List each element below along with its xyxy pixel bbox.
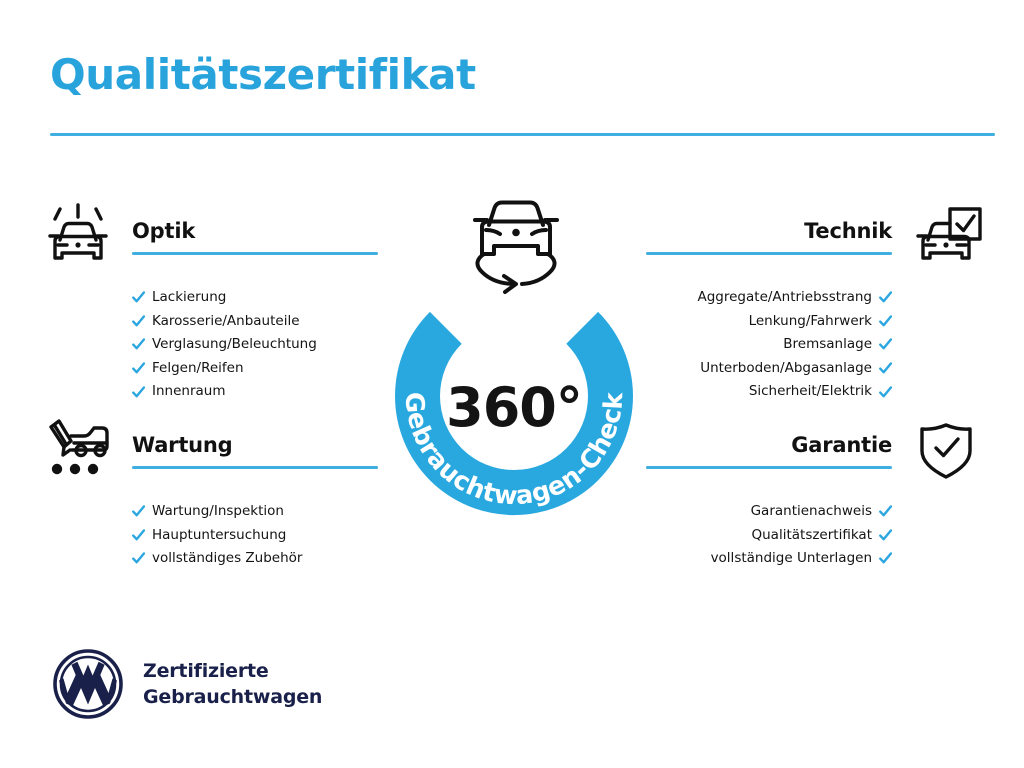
check-icon bbox=[879, 291, 892, 304]
section-title-group: Optik bbox=[132, 220, 382, 255]
list-item-label: Sicherheit/Elektrik bbox=[749, 380, 872, 404]
section-divider bbox=[132, 252, 378, 255]
check-icon bbox=[132, 552, 145, 565]
footer-line-1: Zertifizierte bbox=[143, 658, 322, 684]
check-icon bbox=[132, 505, 145, 518]
section-wartung: Wartung Wartung/Inspektion Hauptuntersuc… bbox=[38, 414, 383, 486]
footer-line-2: Gebrauchtwagen bbox=[143, 684, 322, 710]
section-title-group: Garantie bbox=[642, 434, 892, 469]
list-item-label: Qualitätszertifikat bbox=[752, 524, 873, 548]
list-item-label: Hauptuntersuchung bbox=[152, 524, 286, 548]
check-icon bbox=[132, 291, 145, 304]
certificate-page: Qualitätszertifikat bbox=[0, 0, 1024, 768]
section-title-group: Wartung bbox=[132, 434, 382, 469]
section-heading: Optik bbox=[132, 220, 382, 243]
list-item: Lenkung/Fahrwerk bbox=[632, 310, 892, 334]
list-item-label: vollständige Unterlagen bbox=[711, 547, 872, 571]
list-item-label: Aggregate/Antriebsstrang bbox=[698, 286, 873, 310]
check-icon bbox=[132, 338, 145, 351]
pen-car-checklist-icon bbox=[38, 418, 118, 484]
page-title: Qualitätszertifikat bbox=[50, 52, 476, 98]
vw-logo bbox=[52, 648, 124, 720]
check-icon bbox=[879, 386, 892, 399]
list-item-label: Bremsanlage bbox=[783, 333, 872, 357]
list-item-label: Lackierung bbox=[152, 286, 226, 310]
footer-brand: Zertifizierte Gebrauchtwagen bbox=[52, 648, 322, 720]
list-item-label: vollständiges Zubehör bbox=[152, 547, 302, 571]
check-icon bbox=[132, 386, 145, 399]
list-item-label: Lenkung/Fahrwerk bbox=[749, 310, 872, 334]
section-header: Optik bbox=[38, 200, 383, 272]
car-rotation-icon bbox=[460, 196, 572, 300]
list-item: Garantienachweis bbox=[632, 500, 892, 524]
checklist-technik: Aggregate/Antriebsstrang Lenkung/Fahrwer… bbox=[632, 286, 892, 404]
section-divider bbox=[132, 466, 378, 469]
checklist-garantie: Garantienachweis Qualitätszertifikat vol… bbox=[632, 500, 892, 571]
section-header: Wartung bbox=[38, 414, 383, 486]
list-item-label: Innenraum bbox=[152, 380, 226, 404]
check-icon bbox=[879, 552, 892, 565]
section-garantie: Garantie Garantienachweis Qualitätszerti… bbox=[636, 414, 986, 486]
footer-text: Zertifizierte Gebrauchtwagen bbox=[143, 658, 322, 710]
list-item: Unterboden/Abgasanlage bbox=[632, 357, 892, 381]
check-icon bbox=[132, 529, 145, 542]
check-icon bbox=[879, 315, 892, 328]
list-item: vollständige Unterlagen bbox=[632, 547, 892, 571]
list-item: Bremsanlage bbox=[632, 333, 892, 357]
section-divider bbox=[646, 466, 892, 469]
badge-360-check: Gebrauchtwagen-Check 360° bbox=[374, 196, 658, 496]
list-item-label: Felgen/Reifen bbox=[152, 357, 244, 381]
list-item-label: Unterboden/Abgasanlage bbox=[700, 357, 872, 381]
list-item: Sicherheit/Elektrik bbox=[632, 380, 892, 404]
check-icon bbox=[879, 505, 892, 518]
list-item: vollständiges Zubehör bbox=[132, 547, 472, 571]
check-icon bbox=[132, 362, 145, 375]
list-item: Qualitätszertifikat bbox=[632, 524, 892, 548]
check-icon bbox=[132, 315, 145, 328]
check-icon bbox=[879, 362, 892, 375]
car-shine-icon bbox=[38, 204, 118, 270]
section-heading: Technik bbox=[642, 220, 892, 243]
section-title-group: Technik bbox=[642, 220, 892, 255]
check-icon bbox=[879, 529, 892, 542]
list-item-label: Karosserie/Anbauteile bbox=[152, 310, 300, 334]
list-item: Aggregate/Antriebsstrang bbox=[632, 286, 892, 310]
section-optik: Optik Lackierung Karosserie/Anbauteile V… bbox=[38, 200, 383, 272]
check-icon bbox=[879, 338, 892, 351]
badge-value: 360° bbox=[374, 376, 654, 439]
shield-check-icon bbox=[906, 418, 986, 484]
section-header: Technik bbox=[636, 200, 986, 272]
section-header: Garantie bbox=[636, 414, 986, 486]
car-checkbox-icon bbox=[906, 204, 986, 270]
section-heading: Garantie bbox=[642, 434, 892, 457]
list-item-label: Garantienachweis bbox=[751, 500, 872, 524]
list-item-label: Verglasung/Beleuchtung bbox=[152, 333, 317, 357]
header-divider bbox=[50, 133, 995, 136]
list-item-label: Wartung/Inspektion bbox=[152, 500, 284, 524]
section-divider bbox=[646, 252, 892, 255]
section-heading: Wartung bbox=[132, 434, 382, 457]
section-technik: Technik Aggregate/Antriebsstrang Lenkung… bbox=[636, 200, 986, 272]
